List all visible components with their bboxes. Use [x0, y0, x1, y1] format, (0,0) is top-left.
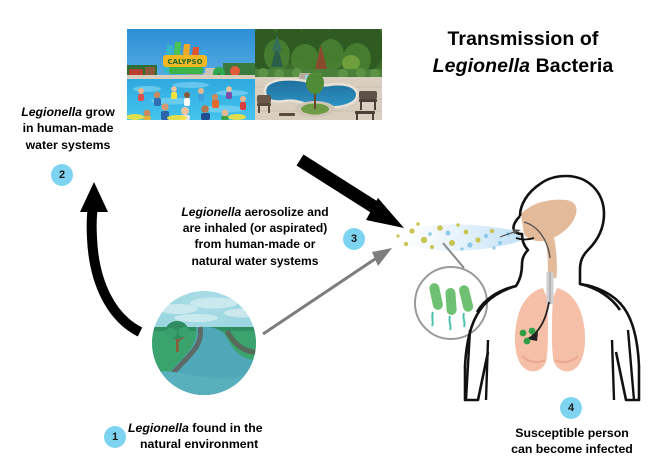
step-badge-1-label: 1 [112, 431, 118, 443]
step-1-line-1: Legionella found in the [128, 420, 328, 436]
step-3-caption: Legionella aerosolize and are inhaled (o… [175, 204, 335, 269]
lungs [515, 288, 585, 371]
step-1-line-2: natural environment [128, 436, 328, 452]
step-3-line-2: are inhaled (or aspirated) [175, 220, 335, 236]
infographic-canvas: CALYPSO [0, 0, 668, 467]
step-badge-2-label: 2 [59, 169, 65, 181]
title-bacteria: Bacteria [530, 55, 613, 77]
title-line-2: Legionella Bacteria [398, 53, 648, 80]
step-2-line-2: in human-made [8, 120, 128, 136]
step-2-legionella: Legionella [21, 105, 82, 119]
natural-water-lake-illustration [152, 291, 260, 396]
step-3-line-3: from human-made or [175, 236, 335, 252]
backyard-pool-photo [255, 29, 382, 120]
leader-line-magnifier [443, 243, 464, 268]
step-2-grow: grow [82, 105, 115, 119]
arrow-trachea-to-lung [526, 302, 549, 341]
water-park-photo: CALYPSO [127, 29, 255, 120]
page-title: Transmission of Legionella Bacteria [398, 26, 648, 80]
step-2-caption: Legionella grow in human-made water syst… [8, 104, 128, 153]
step-4-caption: Susceptible person can become infected [492, 425, 652, 458]
step-badge-4-label: 4 [568, 402, 574, 414]
step-1-caption: Legionella found in the natural environm… [128, 420, 328, 453]
title-legionella-italic: Legionella [433, 55, 530, 77]
step-2-line-1: Legionella grow [8, 104, 128, 120]
step-badge-2[interactable]: 2 [51, 164, 73, 186]
step-badge-4[interactable]: 4 [560, 397, 582, 419]
step-3-legionella: Legionella [181, 205, 241, 219]
step-badge-1[interactable]: 1 [104, 426, 126, 448]
svg-text:CALYPSO: CALYPSO [167, 58, 202, 66]
human-torso-lungs-illustration [465, 176, 639, 400]
title-line-1: Transmission of [398, 26, 648, 53]
legionella-rods [428, 282, 474, 330]
step-1-legionella: Legionella [128, 421, 189, 435]
step-4-line-1: Susceptible person [492, 425, 652, 441]
aerosol-droplets [396, 222, 509, 250]
step-badge-3[interactable]: 3 [343, 228, 365, 250]
nasal-passage [521, 200, 577, 242]
curved-arrow-lake-to-human-made [80, 182, 140, 332]
step-1-found: found in the [189, 421, 263, 435]
bacteria-magnifier-illustration [415, 243, 487, 339]
aerosol-spray-illustration [396, 222, 520, 251]
step-2-line-3: water systems [8, 137, 128, 153]
step-badge-3-label: 3 [351, 233, 357, 245]
step-3-line-1: Legionella aerosolize and [175, 204, 335, 220]
step-3-aerosolize: aerosolize and [241, 205, 328, 219]
step-4-line-2: can become infected [492, 441, 652, 457]
step-3-line-4: natural water systems [175, 253, 335, 269]
photo-strip: CALYPSO [127, 29, 382, 120]
lung-bacteria-dots [520, 328, 536, 345]
